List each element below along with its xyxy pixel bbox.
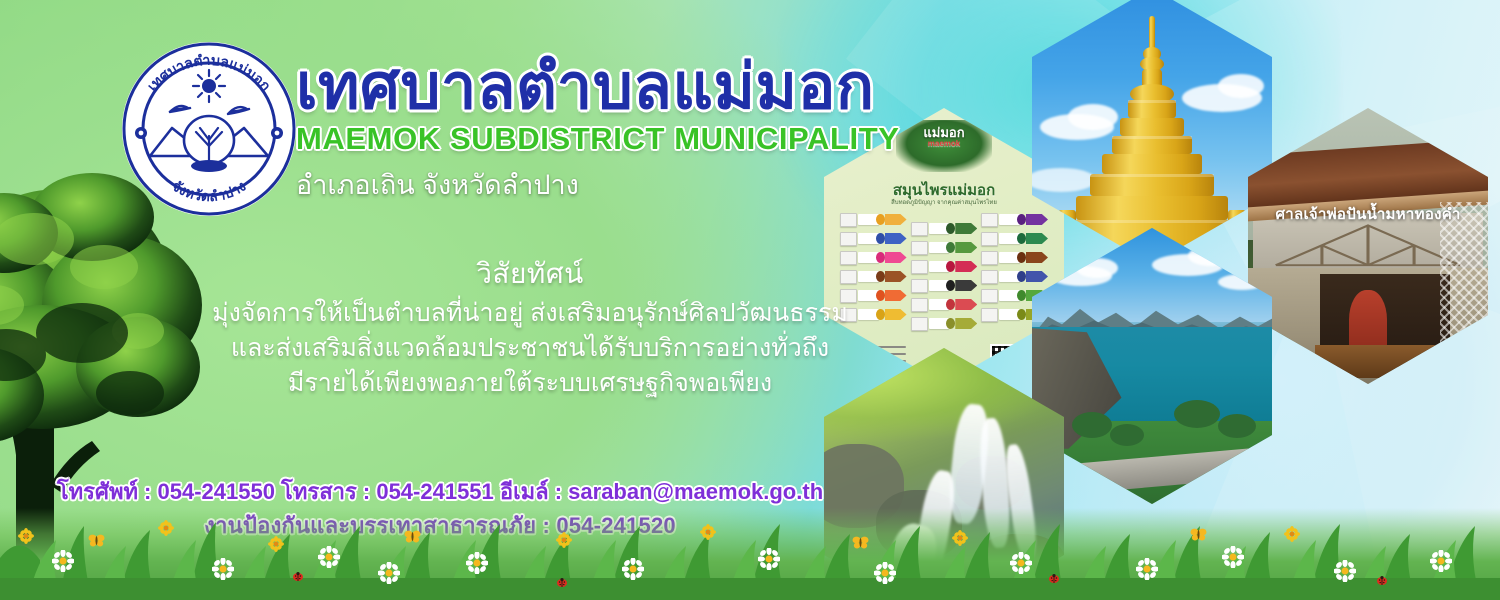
product-arrow-icon: [1026, 233, 1048, 244]
daisy-flower-icon: [466, 552, 488, 574]
product-arrow-icon: [955, 318, 977, 329]
daisy-flower-icon: [758, 548, 780, 570]
page-subtitle-thai: อำเภอเถิน จังหวัดลำปาง: [296, 163, 976, 206]
product-box-icon: [911, 279, 928, 293]
daisy-flower-icon: [874, 562, 896, 584]
product-arrow-icon: [885, 233, 907, 244]
product-chip-icon: [876, 233, 885, 244]
product-chip-icon: [946, 261, 955, 272]
poster-product-item: [911, 221, 978, 236]
product-box-icon: [981, 251, 998, 265]
daisy-flower-icon: [212, 558, 234, 580]
municipal-seal: เทศบาลตำบลแม่มอก จังหวัดลำปาง: [120, 40, 298, 218]
yellow-bloom-icon: [268, 536, 284, 552]
product-chip-icon: [946, 318, 955, 329]
product-box-icon: [911, 298, 928, 312]
poster-product-item: [911, 316, 978, 331]
poster-product-item: [911, 240, 978, 255]
product-chip-icon: [1017, 252, 1026, 263]
poster-product-item: [981, 269, 1048, 284]
shrine-caption: ศาลเจ้าพ่อปันน้ำมหาทองคำ: [1248, 202, 1488, 226]
grass-flowers-border: [0, 508, 1500, 600]
yellow-bloom-icon: [158, 520, 174, 536]
butterfly-icon: [88, 534, 105, 547]
poster-product-item: [911, 259, 978, 274]
hex-dam-reservoir: [1032, 228, 1272, 504]
product-box-icon: [981, 270, 998, 284]
product-box-icon: [911, 317, 928, 331]
product-arrow-icon: [955, 261, 977, 272]
ladybug-icon: [556, 578, 568, 587]
butterfly-icon: [852, 536, 869, 549]
butterfly-icon: [1190, 528, 1207, 541]
daisy-flower-icon: [52, 550, 74, 572]
qr-code-icon: [990, 344, 1020, 374]
yellow-bloom-icon: [1284, 526, 1300, 542]
product-chip-icon: [876, 214, 885, 225]
product-arrow-icon: [885, 252, 907, 263]
ladybug-icon: [1376, 576, 1388, 585]
grass-blades-icon: [0, 508, 1500, 600]
product-chip-icon: [946, 242, 955, 253]
product-box-icon: [981, 289, 998, 303]
product-chip-icon: [946, 299, 955, 310]
daisy-flower-icon: [1334, 560, 1356, 582]
product-arrow-icon: [1026, 214, 1048, 225]
yellow-bloom-icon: [952, 530, 968, 546]
contact-line-primary[interactable]: โทรศัพท์ : 054-241550 โทรสาร : 054-24155…: [40, 475, 840, 509]
vision-line-1: มุ่งจัดการให้เป็นตำบลที่น่าอยู่ ส่งเสริม…: [180, 296, 880, 331]
product-arrow-icon: [885, 309, 907, 320]
poster-product-item: [840, 212, 907, 227]
product-arrow-icon: [955, 223, 977, 234]
product-arrow-icon: [955, 242, 977, 253]
municipality-banner: แม่มอก maemok สมุนไพรแม่มอก สืบทอดภูมิปั…: [0, 0, 1500, 600]
pagoda-icon: [1052, 14, 1252, 264]
daisy-flower-icon: [1430, 550, 1452, 572]
product-arrow-icon: [885, 271, 907, 282]
ladybug-icon: [292, 572, 304, 581]
product-arrow-icon: [885, 214, 907, 225]
shrine-photo-art: ศาลเจ้าพ่อปันน้ำมหาทองคำ: [1248, 108, 1488, 384]
product-chip-icon: [1017, 309, 1026, 320]
vision-line-3: มีรายได้เพียงพอภายใต้ระบบเศรษฐกิจพอเพียง: [180, 366, 880, 401]
pagoda-photo-art: วัดท บ้านกุ่ อำเภ: [1032, 0, 1272, 264]
dam-photo-art: [1032, 228, 1272, 504]
product-chip-icon: [1017, 233, 1026, 244]
daisy-flower-icon: [318, 546, 340, 568]
product-chip-icon: [1017, 271, 1026, 282]
product-box-icon: [981, 232, 998, 246]
poster-product-item: [911, 278, 978, 293]
vision-heading: วิสัยทัศน์: [180, 252, 880, 296]
product-arrow-icon: [955, 280, 977, 291]
daisy-flower-icon: [622, 558, 644, 580]
header-text-block: เทศบาลตำบลแม่มอก MAEMOK SUBDISTRICT MUNI…: [296, 55, 976, 206]
hex-golden-pagoda: วัดท บ้านกุ่ อำเภ: [1032, 0, 1272, 264]
product-box-icon: [840, 213, 857, 227]
poster-product-item: [981, 231, 1048, 246]
pagoda-caption: วัดท บ้านกุ่ อำเภ: [1238, 0, 1262, 33]
yellow-bloom-icon: [556, 532, 572, 548]
yellow-bloom-icon: [18, 528, 34, 544]
poster-product-item: [981, 212, 1048, 227]
product-arrow-icon: [885, 290, 907, 301]
yellow-bloom-icon: [700, 524, 716, 540]
product-chip-icon: [946, 280, 955, 291]
hex-shrine: ศาลเจ้าพ่อปันน้ำมหาทองคำ: [1248, 108, 1488, 384]
product-box-icon: [911, 241, 928, 255]
product-chip-icon: [946, 223, 955, 234]
daisy-flower-icon: [1222, 546, 1244, 568]
poster-product-item: [981, 250, 1048, 265]
product-box-icon: [840, 232, 857, 246]
ladybug-icon: [1048, 574, 1060, 583]
product-arrow-icon: [1026, 271, 1048, 282]
product-chip-icon: [1017, 214, 1026, 225]
product-chip-icon: [1017, 290, 1026, 301]
vision-line-2: และส่งเสริมสิ่งแวดล้อมประชาชนได้รับบริกา…: [180, 331, 880, 366]
product-box-icon: [981, 213, 998, 227]
daisy-flower-icon: [378, 562, 400, 584]
poster-product-item: [911, 297, 978, 312]
product-box-icon: [911, 222, 928, 236]
product-box-icon: [911, 260, 928, 274]
daisy-flower-icon: [1136, 558, 1158, 580]
butterfly-icon: [404, 530, 421, 543]
page-title-thai: เทศบาลตำบลแม่มอก: [296, 55, 976, 119]
product-arrow-icon: [1026, 252, 1048, 263]
product-box-icon: [981, 308, 998, 322]
poster-product-item: [840, 231, 907, 246]
daisy-flower-icon: [1010, 552, 1032, 574]
vision-block: วิสัยทัศน์ มุ่งจัดการให้เป็นตำบลที่น่าอย…: [180, 252, 880, 401]
page-title-english: MAEMOK SUBDISTRICT MUNICIPALITY: [296, 121, 976, 157]
product-arrow-icon: [955, 299, 977, 310]
